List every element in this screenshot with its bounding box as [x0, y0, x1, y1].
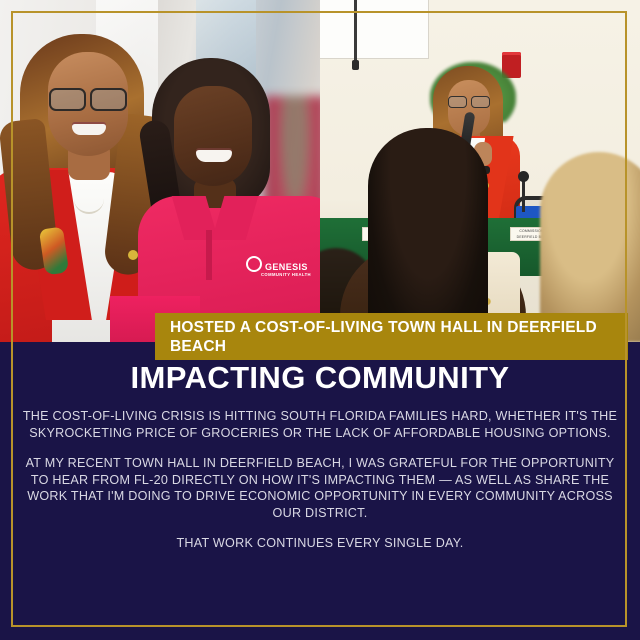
genesis-mark-icon [246, 256, 262, 272]
body-paragraph-1: THE COST-OF-LIVING CRISIS IS HITTING SOU… [0, 408, 640, 441]
social-graphic-card: GENESIS COMMUNITY HEALTH [0, 0, 640, 640]
woman-one-eyeglasses-icon [48, 88, 128, 107]
woman-two-smile [196, 150, 232, 162]
genesis-logo-subtext: COMMUNITY HEALTH [261, 272, 306, 277]
caption-banner-text: HOSTED A COST-OF-LIVING TOWN HALL IN DEE… [155, 318, 628, 356]
table-microphone-icon [522, 178, 525, 212]
body-paragraph-2: AT MY RECENT TOWN HALL IN DEERFIELD BEAC… [0, 455, 640, 521]
speaker-eyeglasses-icon [448, 96, 490, 106]
photo-two-women-portrait: GENESIS COMMUNITY HEALTH [0, 0, 320, 342]
message-panel: IMPACTING COMMUNITY THE COST-OF-LIVING C… [0, 342, 640, 640]
photo-collage: GENESIS COMMUNITY HEALTH [0, 0, 640, 342]
woman-two-polo-placket [206, 230, 212, 280]
whiteboard [320, 0, 429, 59]
woman-two-face [174, 86, 252, 186]
body-paragraph-3: THAT WORK CONTINUES EVERY SINGLE DAY. [0, 535, 640, 552]
genesis-shirt-logo: GENESIS COMMUNITY HEALTH [246, 256, 306, 276]
hanging-cord [354, 0, 357, 66]
genesis-logo-text: GENESIS [265, 262, 308, 272]
audience-member-foreground-head [368, 128, 488, 342]
caption-banner: HOSTED A COST-OF-LIVING TOWN HALL IN DEE… [155, 313, 628, 360]
photo-town-hall: REP. SHEILA C. CHERFILUS COMMISSIONER DE… [320, 0, 640, 342]
woman-one-smile [72, 124, 106, 135]
woman-one-gold-pin [128, 250, 138, 260]
